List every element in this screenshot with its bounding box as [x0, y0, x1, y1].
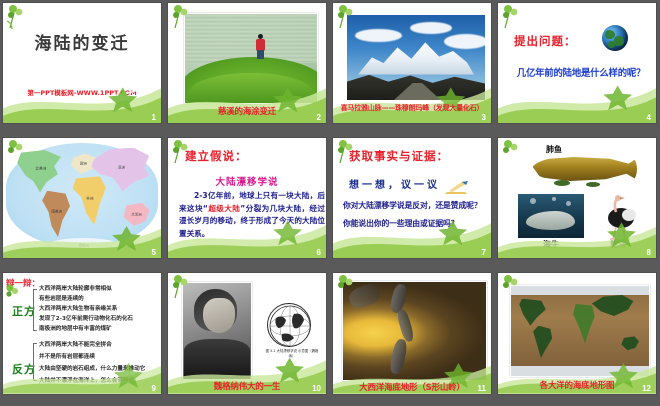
slide-cell-3[interactable]: 喜马拉雅山脉——珠穆朗玛峰（发现大量化石） 3: [330, 0, 495, 135]
slide-number: 9: [152, 383, 156, 394]
slide-12-global-seafloor[interactable]: 各大洋的海底地形图 12: [498, 273, 656, 394]
con-point-2: 并不是所有岩层都连续: [39, 353, 95, 363]
photo-caption: 慈溪的海涂变迁: [168, 105, 326, 117]
section-heading: 获取事实与证据：: [349, 148, 449, 164]
slide-3-himalaya[interactable]: 喜马拉雅山脉——珠穆朗玛峰（发现大量化石） 3: [333, 3, 491, 123]
person-figure: [254, 34, 268, 60]
clover-icon: [499, 4, 525, 34]
wegener-portrait-photo: [182, 282, 252, 380]
slide-cell-6[interactable]: 建立假说： 大陆漂移学说 2-3亿年前，地球上只有一块大陆，后来这块“超级大陆”…: [165, 135, 330, 270]
pro-point-1: 大西洋两岸大陆轮廓非常相似: [39, 285, 112, 295]
himalaya-photo: [347, 15, 485, 100]
body-emphasis: 超级大陆: [208, 204, 240, 213]
slide-5-world-map[interactable]: 北美洲 南美洲 欧洲 亚洲 非洲 大洋洲 南极洲: [3, 138, 161, 258]
slide-2-tidal-flat[interactable]: 慈溪的海涂变迁 2: [168, 3, 326, 123]
question-2: 你能说出你的一些理由或证据吗？: [343, 218, 458, 229]
slide-number: 6: [317, 247, 321, 258]
page-title: 海陆的变迁: [3, 29, 161, 54]
hypothesis-body: 2-3亿年前，地球上只有一块大陆，后来这块“超级大陆”分裂为几块大陆，经过漫长岁…: [179, 190, 325, 240]
lungfish-photo: [532, 154, 637, 184]
diagram-caption: 图 3-1 大陆漂移学说 示意图（魏格纳）: [264, 349, 320, 358]
slide-number: 8: [647, 247, 651, 258]
slide-4-question[interactable]: 提出问题： 几亿年前的陆地是什么样的呢？ 4: [498, 3, 656, 123]
slide-number: 5: [152, 247, 156, 258]
slide-cell-12[interactable]: 各大洋的海底地形图 12: [495, 270, 660, 406]
photo-caption: 大西洋海底地形（S形山岭）: [333, 381, 491, 393]
slide-8-animals[interactable]: 肺鱼 海牛 鸵鸟: [498, 138, 656, 258]
atlantic-seafloor-map: [342, 281, 487, 381]
slide-number: 4: [647, 112, 651, 123]
clover-icon: [499, 139, 525, 169]
slide-cell-9[interactable]: 辩一辩： 正方 大西洋两岸大陆轮廓非常相似 有些岩层是连续的 大西洋两岸大陆生物…: [0, 270, 165, 406]
slide-cell-7[interactable]: 获取事实与证据： 想一想，议一议 你对大陆漂移学说是反对，还是赞成呢？ 你能说出…: [330, 135, 495, 270]
section-heading: 建立假说：: [185, 148, 248, 164]
slide-cell-1[interactable]: 海陆的变迁 第一PPT模板网-WWW.1PPT.COM 1: [0, 0, 165, 135]
globe-icon: [602, 25, 628, 51]
pencil-icon: [443, 178, 473, 196]
slide-cell-8[interactable]: 肺鱼 海牛 鸵鸟: [495, 135, 660, 270]
discussion-prompt: 想一想，议一议: [349, 176, 440, 191]
slide-11-atlantic-seafloor[interactable]: 大西洋海底地形（S形山岭） 11: [333, 273, 491, 394]
pro-point-4: 发现了2-3亿年前爬行动物化石的化石: [39, 315, 133, 325]
global-seafloor-map: [510, 285, 650, 377]
slide-cell-5[interactable]: 北美洲 南美洲 欧洲 亚洲 非洲 大洋洲 南极洲: [0, 135, 165, 270]
green-swoosh-decoration: [333, 203, 491, 258]
debate-tag: 辩一辩：: [6, 277, 40, 289]
con-point-3: 大陆由坚硬的岩石组成，什么力量来推动它: [39, 365, 145, 375]
con-point-1: 大西洋两岸大陆不能完全拼合: [39, 341, 112, 351]
ostrich-photo: [594, 194, 642, 242]
continental-drift-diagram: 图 3-1 大陆漂移学说 示意图（魏格纳）: [264, 303, 320, 365]
slide-thumbnail-grid: 海陆的变迁 第一PPT模板网-WWW.1PPT.COM 1: [0, 0, 660, 406]
rice-field-photo: [184, 13, 318, 104]
slide-number: 7: [482, 247, 486, 258]
slide-10-wegener[interactable]: 图 3-1 大陆漂移学说 示意图（魏格纳） 魏格纳伟大的一生 10: [168, 273, 326, 394]
photo-caption: 魏格纳伟大的一生: [168, 380, 326, 392]
ostrich-label: 鸵鸟: [594, 239, 642, 250]
photo-caption: 喜马拉雅山脉——珠穆朗玛峰（发现大量化石）: [333, 103, 491, 113]
slide-cell-11[interactable]: 大西洋海底地形（S形山岭） 11: [330, 270, 495, 406]
slide-6-hypothesis[interactable]: 建立假说： 大陆漂移学说 2-3亿年前，地球上只有一块大陆，后来这块“超级大陆”…: [168, 138, 326, 258]
pro-point-2: 有些岩层是连续的: [39, 295, 84, 305]
slide-cell-4[interactable]: 提出问题： 几亿年前的陆地是什么样的呢？ 4: [495, 0, 660, 135]
pro-point-5: 南极洲的地层中有丰富的煤矿: [39, 325, 112, 335]
manatee-photo: [518, 194, 584, 238]
slide-7-evidence[interactable]: 获取事实与证据： 想一想，议一议 你对大陆漂移学说是反对，还是赞成呢？ 你能说出…: [333, 138, 491, 258]
photo-caption: 各大洋的海底地形图: [498, 379, 656, 391]
hypothesis-subheading: 大陆漂移学说: [168, 174, 326, 188]
slide-number: 1: [152, 112, 156, 123]
slide-number: 3: [482, 112, 486, 123]
slide-9-debate[interactable]: 辩一辩： 正方 大西洋两岸大陆轮廓非常相似 有些岩层是连续的 大西洋两岸大陆生物…: [3, 273, 161, 394]
lungfish-label: 肺鱼: [546, 144, 562, 155]
section-heading: 提出问题：: [514, 33, 577, 49]
con-point-4: 大陆并不漂浮在海洋上，怎么会漂移呢: [39, 377, 134, 387]
pro-point-3: 大西洋两岸大陆生物有亲缘关系: [39, 305, 117, 315]
manatee-label: 海牛: [518, 239, 584, 250]
title-subtitle: 第一PPT模板网-WWW.1PPT.COM: [3, 87, 161, 97]
question-text: 几亿年前的陆地是什么样的呢？: [505, 65, 656, 79]
question-1: 你对大陆漂移学说是反对，还是赞成呢？: [343, 200, 482, 211]
slide-cell-10[interactable]: 图 3-1 大陆漂移学说 示意图（魏格纳） 魏格纳伟大的一生 10: [165, 270, 330, 406]
slide-cell-2[interactable]: 慈溪的海涂变迁 2: [165, 0, 330, 135]
slide-1-title[interactable]: 海陆的变迁 第一PPT模板网-WWW.1PPT.COM 1: [3, 3, 161, 123]
